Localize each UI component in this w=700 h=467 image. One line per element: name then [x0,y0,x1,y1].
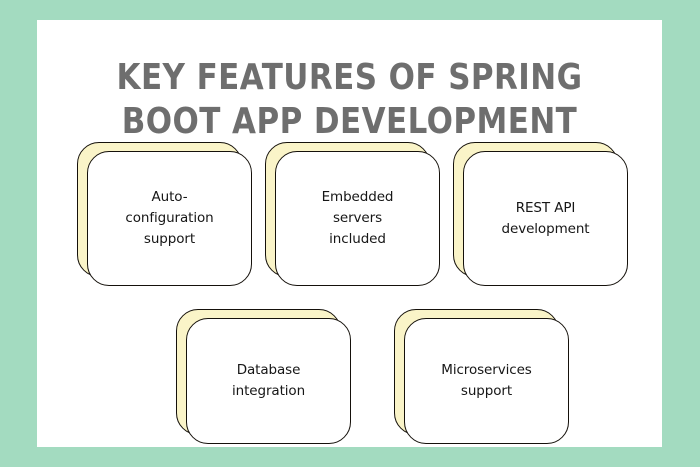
card-front-layer: Database integration [186,318,351,444]
card-front-layer: Microservices support [404,318,569,444]
feature-card-label: REST API development [502,198,590,240]
feature-card-rest-api[interactable]: REST API development [453,142,618,277]
feature-card-embedded-servers[interactable]: Embedded servers included [265,142,430,277]
page-title-line-2: Boot App Development [81,100,619,144]
page-title-line-1: Key Features of Spring [81,56,619,100]
white-content-panel: Key Features of Spring Boot App Developm… [37,20,662,447]
card-front-layer: Embedded servers included [275,151,440,286]
card-front-layer: REST API development [463,151,628,286]
feature-card-auto-configuration[interactable]: Auto- configuration support [77,142,242,277]
feature-card-database-integration[interactable]: Database integration [176,309,341,435]
feature-card-label: Auto- configuration support [125,187,213,250]
page-title: Key Features of Spring Boot App Developm… [81,56,619,144]
infographic-canvas: Key Features of Spring Boot App Developm… [0,0,700,467]
feature-card-label: Microservices support [441,360,531,402]
feature-card-microservices[interactable]: Microservices support [394,309,559,435]
card-front-layer: Auto- configuration support [87,151,252,286]
feature-card-label: Embedded servers included [322,187,394,250]
feature-card-label: Database integration [232,360,305,402]
